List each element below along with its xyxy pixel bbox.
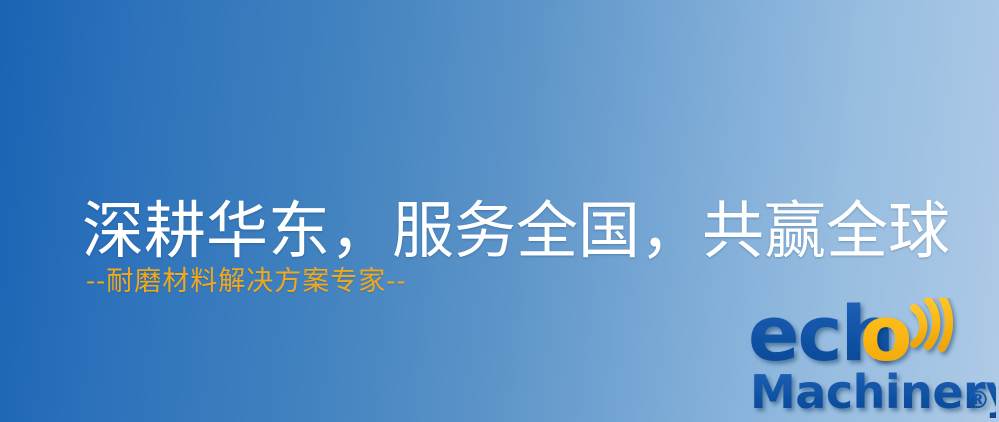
svg-text:Machinery: Machinery — [750, 365, 996, 418]
promo-banner: 深耕华东，服务全国，共赢全球 --耐磨材料解决方案专家-- — [0, 0, 999, 422]
banner-headline: 深耕华东，服务全国，共赢全球 — [82, 194, 952, 268]
registered-trademark-icon: ® — [966, 386, 990, 414]
logo-tagline: Machinery ® — [750, 365, 996, 418]
echo-machinery-logo: ech o Machinery ® — [748, 298, 996, 418]
banner-subtitle: --耐磨材料解决方案专家-- — [86, 265, 407, 299]
echo-wave-icon — [914, 298, 949, 348]
